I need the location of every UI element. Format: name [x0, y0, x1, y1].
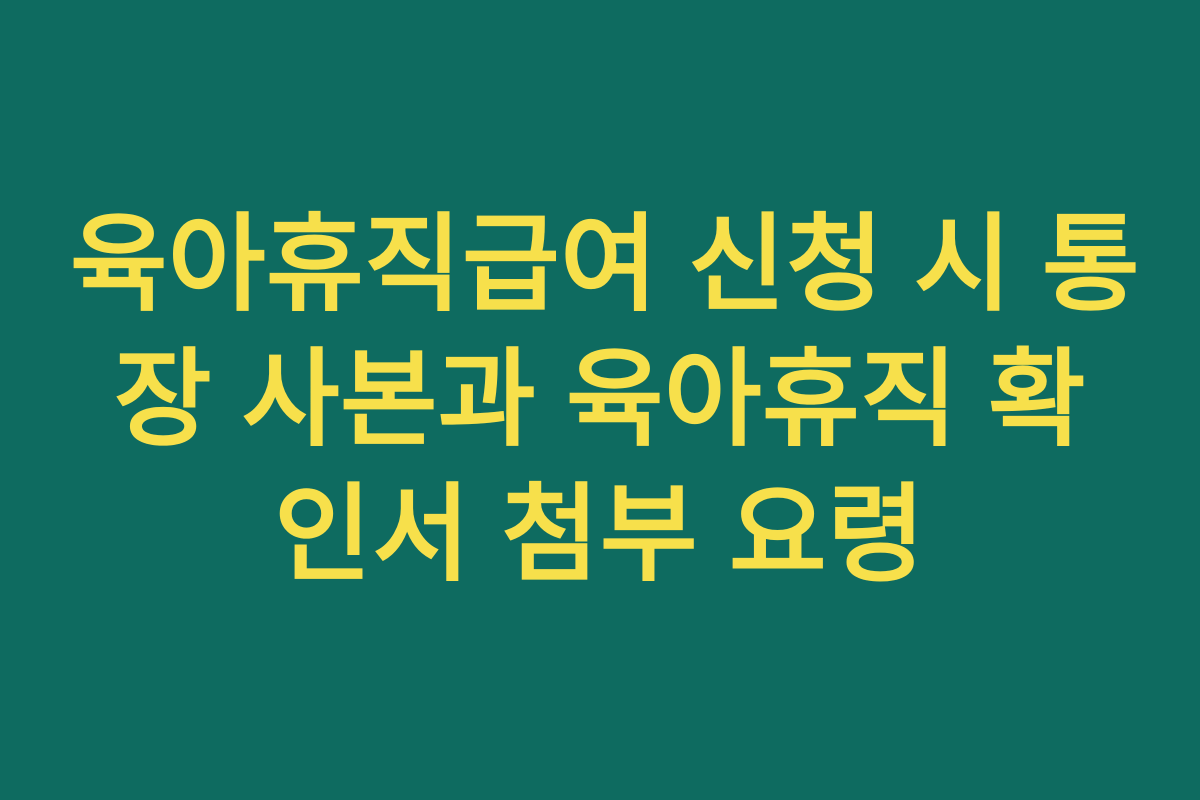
- title-line-1: 육아휴직급여 신청 시 통: [70, 198, 1130, 333]
- title-line-2: 장 사본과 육아휴직 확: [70, 333, 1130, 468]
- page-title: 육아휴직급여 신청 시 통 장 사본과 육아휴직 확 인서 첨부 요령: [70, 198, 1130, 603]
- title-thumbnail-card: 육아휴직급여 신청 시 통 장 사본과 육아휴직 확 인서 첨부 요령: [0, 0, 1200, 800]
- title-line-3: 인서 첨부 요령: [70, 468, 1130, 603]
